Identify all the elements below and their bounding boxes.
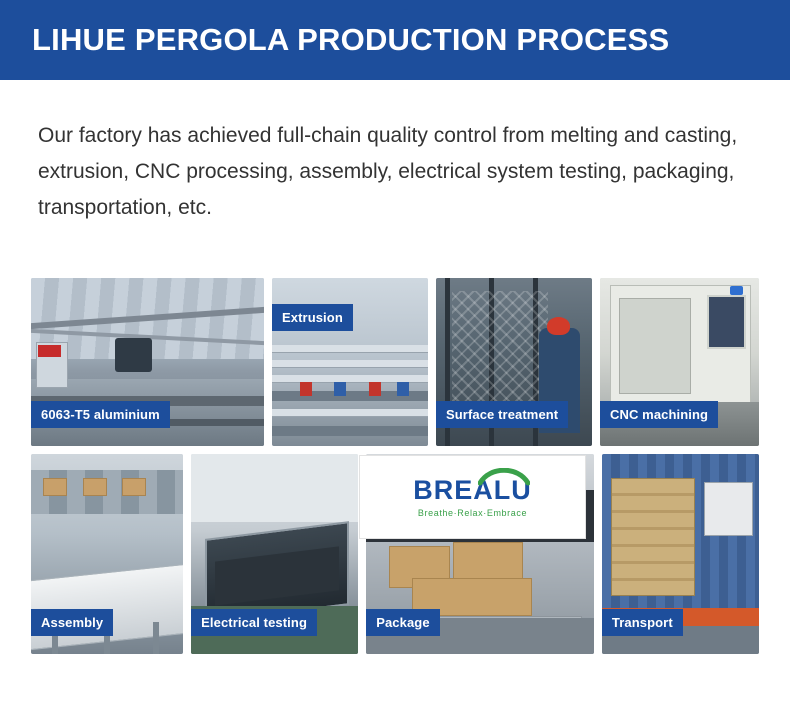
gallery-item-aluminium[interactable]: 6063-T5 aluminium (31, 278, 264, 446)
caption-aluminium: 6063-T5 aluminium (31, 401, 170, 428)
caption-surface-treatment: Surface treatment (436, 401, 568, 428)
brand-logo-tile: BREALU Breathe·Relax·Embrace (359, 455, 586, 539)
caption-extrusion: Extrusion (272, 304, 353, 331)
header-bar: LIHUE PERGOLA PRODUCTION PROCESS (0, 0, 790, 80)
gallery-row-1: 6063-T5 aluminium Extrusion (31, 278, 759, 446)
gallery-item-assembly[interactable]: Assembly (31, 454, 183, 654)
brand-tagline: Breathe·Relax·Embrace (418, 508, 527, 518)
caption-cnc: CNC machining (600, 401, 718, 428)
caption-transport: Transport (602, 609, 683, 636)
caption-electrical-testing: Electrical testing (191, 609, 317, 636)
gallery-item-extrusion[interactable]: Extrusion (272, 278, 428, 446)
swoosh-icon (478, 468, 530, 486)
intro-paragraph: Our factory has achieved full-chain qual… (38, 118, 758, 226)
poster-page: LIHUE PERGOLA PRODUCTION PROCESS Our fac… (0, 0, 790, 722)
gallery-item-electrical-testing[interactable]: Electrical testing (191, 454, 358, 654)
caption-assembly: Assembly (31, 609, 113, 636)
gallery-item-surface-treatment[interactable]: Surface treatment (436, 278, 592, 446)
gallery-item-transport[interactable]: AM456 Transport (602, 454, 759, 654)
caption-package: Package (366, 609, 439, 636)
page-title: LIHUE PERGOLA PRODUCTION PROCESS (32, 22, 669, 58)
gallery-item-cnc[interactable]: CNC machining (600, 278, 759, 446)
